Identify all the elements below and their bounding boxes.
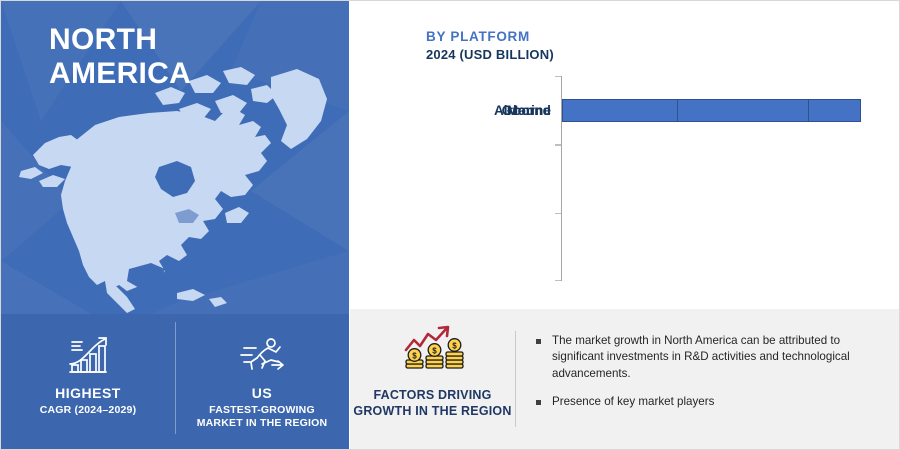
chart-title: BY PLATFORM <box>426 29 530 44</box>
coins-growth-arrow-icon: $ $ <box>398 323 468 379</box>
stat-fastest-growing-country: US FASTEST-GROWING MARKET IN THE REGION <box>175 314 349 450</box>
axis-tick <box>555 144 561 145</box>
chart-panel: BY PLATFORM 2024 (USD BILLION) Ground Ai… <box>350 1 900 309</box>
list-item: Presence of key market players <box>536 394 886 410</box>
running-person-rocket-icon <box>238 330 286 376</box>
bar-label-marine: Marine <box>350 103 551 118</box>
stat-country-headline: US <box>252 385 272 401</box>
notes-panel: $ $ <box>350 309 900 450</box>
svg-text:$: $ <box>432 346 437 355</box>
svg-text:$: $ <box>452 341 457 350</box>
chart-subtitle: 2024 (USD BILLION) <box>426 47 554 62</box>
list-item: The market growth in North America can b… <box>536 333 886 382</box>
region-panel: NORTH AMERICA <box>1 1 349 450</box>
insight-bullet-list: The market growth in North America can b… <box>516 309 900 450</box>
factors-driving-growth-block: $ $ <box>350 309 515 450</box>
north-america-map-icon <box>9 63 349 313</box>
bar-chart-plot: Ground Airborne Marine <box>350 76 900 281</box>
bar-marine[interactable] <box>562 99 678 122</box>
factors-driving-growth-label: FACTORS DRIVING GROWTH IN THE REGION <box>353 387 511 420</box>
axis-tick <box>555 213 561 214</box>
axis-tick <box>555 280 561 281</box>
stat-country-sublabel: FASTEST-GROWING MARKET IN THE REGION <box>197 404 328 431</box>
svg-text:$: $ <box>412 351 417 360</box>
infographic-root: NORTH AMERICA <box>0 0 900 450</box>
region-stats-strip: HIGHEST CAGR (2024–2029) <box>1 314 349 450</box>
stat-cagr-headline: HIGHEST <box>55 385 121 401</box>
stat-cagr-sublabel: CAGR (2024–2029) <box>40 404 137 417</box>
bar-row: Marine <box>350 76 900 144</box>
growth-bar-chart-arrow-icon <box>65 330 111 376</box>
page-title: NORTH AMERICA <box>49 23 191 91</box>
stat-cagr: HIGHEST CAGR (2024–2029) <box>1 314 175 450</box>
